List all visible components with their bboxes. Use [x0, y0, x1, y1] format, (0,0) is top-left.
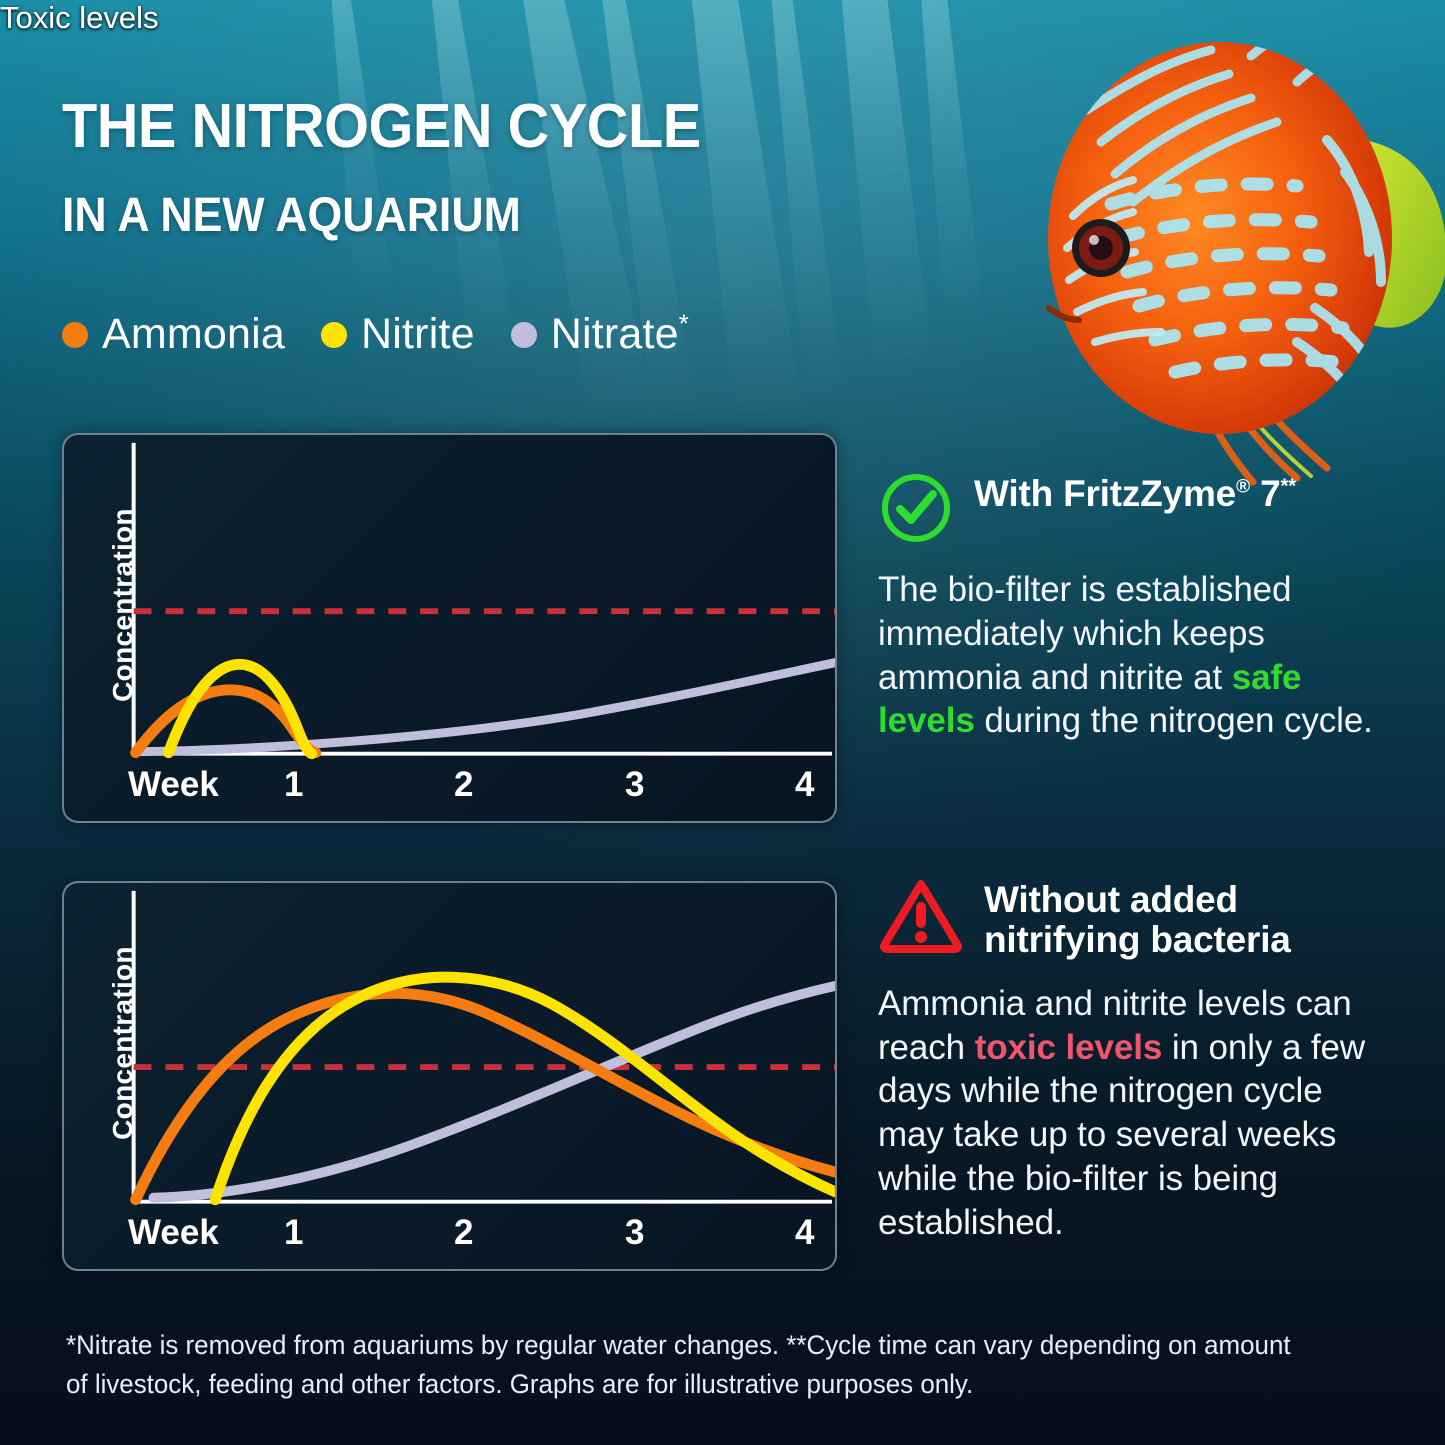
chart1-xlabel-week: Week: [128, 765, 219, 805]
legend-dot-nitrite: [321, 322, 347, 348]
page-subtitle: IN A NEW AQUARIUM: [62, 192, 973, 240]
with-fritzzyme-heading: With FritzZyme® 7**: [974, 470, 1296, 514]
chart2-xlabel-2: 2: [454, 1213, 473, 1253]
chart2-x-axis-labels: Week 1 2 3 4: [62, 1213, 837, 1259]
legend-item-ammonia: Ammonia: [62, 310, 285, 359]
with-fritzzyme-body: The bio-filter is established immediatel…: [878, 568, 1378, 743]
legend-label-ammonia: Ammonia: [102, 310, 285, 359]
chart1-xlabel-3: 3: [625, 765, 644, 805]
legend-item-nitrate: Nitrate*: [511, 310, 689, 359]
toxic-levels-highlight: toxic levels: [975, 1028, 1163, 1067]
chart1-xlabel-4: 4: [795, 765, 814, 805]
legend: Ammonia Nitrite Nitrate*: [62, 310, 689, 359]
footnote-text: *Nitrate is removed from aquariums by re…: [66, 1326, 1314, 1404]
chart1-xlabel-1: 1: [284, 765, 303, 805]
chart2-xlabel-week: Week: [128, 1213, 219, 1253]
legend-dot-nitrate: [511, 322, 537, 348]
chart2-xlabel-3: 3: [625, 1213, 644, 1253]
registered-mark: ®: [1236, 477, 1250, 498]
chart2-xlabel-1: 1: [284, 1213, 303, 1253]
without-bacteria-heading: Without added nitrifying bacteria: [984, 876, 1374, 960]
legend-item-nitrite: Nitrite: [321, 310, 475, 359]
chart2-toxic-label: Toxic levels: [0, 0, 159, 36]
legend-label-nitrite: Nitrite: [361, 310, 475, 359]
page-title: THE NITROGEN CYCLE: [62, 96, 973, 158]
warning-triangle-icon: [878, 876, 964, 954]
check-circle-icon: [878, 470, 954, 546]
discus-fish-image: [1015, 0, 1445, 490]
legend-label-nitrate: Nitrate*: [551, 310, 689, 359]
without-bacteria-body: Ammonia and nitrite levels can reach tox…: [878, 982, 1378, 1245]
legend-nitrate-asterisk: *: [679, 311, 689, 339]
chart1-xlabel-2: 2: [454, 765, 473, 805]
chart2-xlabel-4: 4: [795, 1213, 814, 1253]
chart1-x-axis-labels: Week 1 2 3 4: [62, 765, 837, 811]
chart2-plot: [64, 883, 835, 1269]
with-fritzzyme-block: With FritzZyme® 7** The bio-filter is es…: [878, 470, 1378, 743]
chart1-plot: [64, 435, 835, 821]
without-bacteria-block: Without added nitrifying bacteria Ammoni…: [878, 876, 1378, 1244]
with-heading-footnote-mark: **: [1281, 476, 1296, 498]
legend-dot-ammonia: [62, 322, 88, 348]
